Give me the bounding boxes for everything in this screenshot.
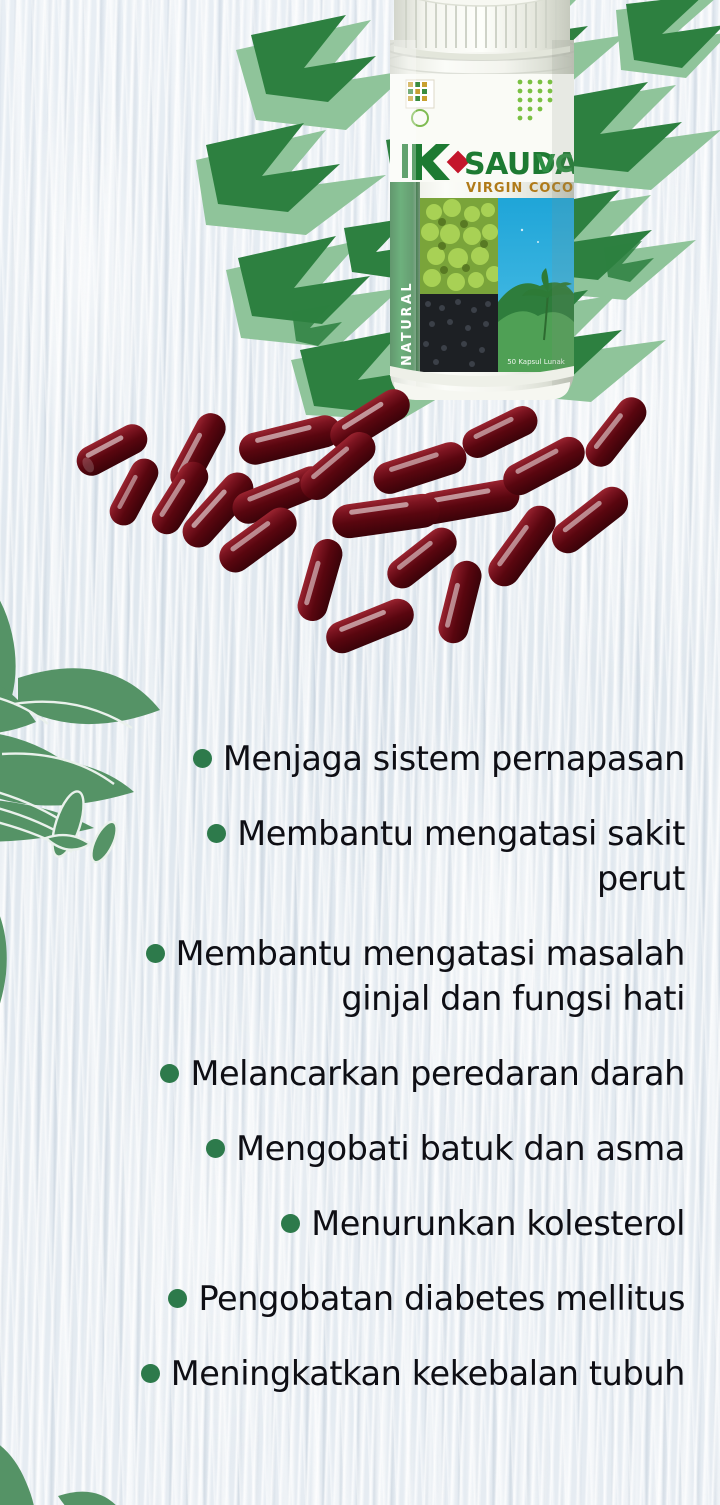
- benefit-text: Membantu mengatasi sakit perut: [237, 811, 685, 901]
- green-dot-icon: [141, 1364, 160, 1383]
- green-dot-icon: [160, 1064, 179, 1083]
- benefit-text: Pengobatan diabetes mellitus: [198, 1276, 685, 1321]
- benefit-text: Membantu mengatasi masalah ginjal dan fu…: [176, 931, 685, 1021]
- benefits-list: Menjaga sistem pernapasan Membantu menga…: [0, 736, 720, 1426]
- benefit-text: Mengobati batuk dan asma: [236, 1126, 685, 1171]
- green-dot-icon: [146, 944, 165, 963]
- green-dot-icon: [193, 749, 212, 768]
- benefit-item: Melancarkan peredaran darah: [0, 1051, 720, 1096]
- benefit-text: Melancarkan peredaran darah: [190, 1051, 685, 1096]
- benefit-item: Membantu mengatasi sakit perut: [0, 811, 720, 901]
- green-dot-icon: [206, 1139, 225, 1158]
- green-dot-icon: [207, 824, 226, 843]
- bottle-label: SAUDA VCO VIRGIN COCONUT OIL NATURAL: [390, 40, 592, 400]
- green-dot-icon: [281, 1214, 300, 1233]
- product-benefits-poster: TO OPEN: [0, 0, 720, 1505]
- benefit-item: Menurunkan kolesterol: [0, 1201, 720, 1246]
- benefit-text: Menjaga sistem pernapasan: [223, 736, 685, 781]
- green-dot-icon: [168, 1289, 187, 1308]
- benefit-item: Membantu mengatasi masalah ginjal dan fu…: [0, 931, 720, 1021]
- benefit-item: Mengobati batuk dan asma: [0, 1126, 720, 1171]
- benefit-item: Pengobatan diabetes mellitus: [0, 1276, 720, 1321]
- benefit-text: Menurunkan kolesterol: [311, 1201, 685, 1246]
- bottle-cap: TO OPEN: [394, 0, 570, 60]
- product-bottle: TO OPEN: [372, 0, 592, 412]
- benefit-item: Meningkatkan kekebalan tubuh: [0, 1351, 720, 1396]
- benefit-item: Menjaga sistem pernapasan: [0, 736, 720, 781]
- benefit-text: Meningkatkan kekebalan tubuh: [171, 1351, 685, 1396]
